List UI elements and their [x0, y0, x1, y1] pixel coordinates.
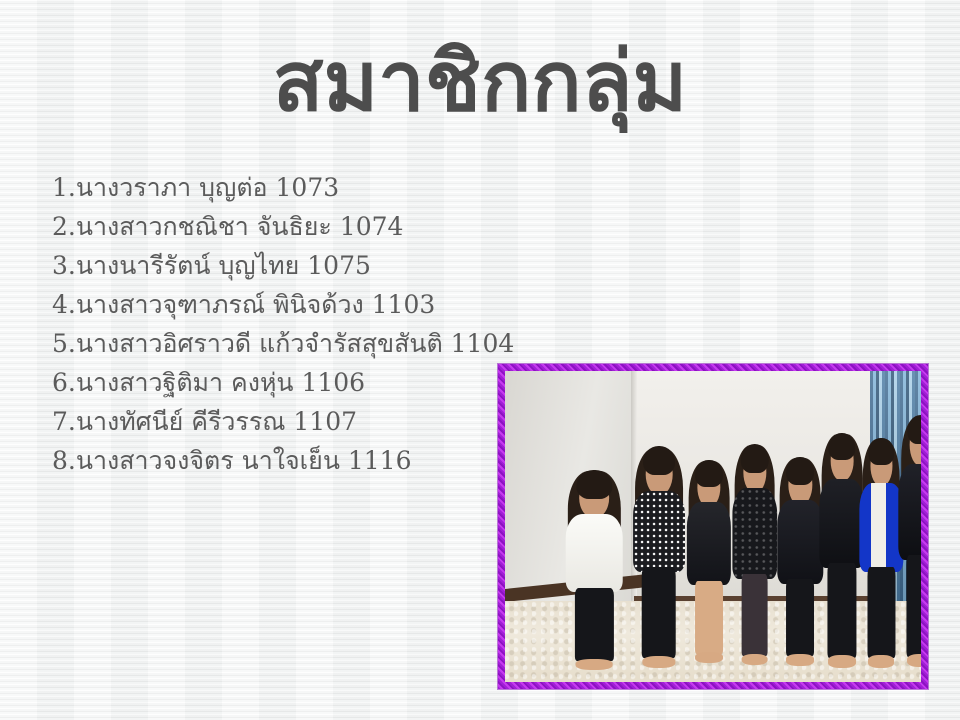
photo-person: [559, 449, 630, 673]
page-title: สมาชิกกลุ่ม: [0, 38, 960, 125]
list-item: 1.นางวราภา บุญต่อ 1073: [52, 168, 514, 207]
list-item: 4.นางสาวจุฑาภรณ์ พินิจด้วง 1103: [52, 285, 514, 324]
member-line: 7.นางทัศนีย์ คีรีวรรณ 1107: [52, 407, 357, 436]
member-list: 1.นางวราภา บุญต่อ 1073 2.นางสาวกชณิชา จั…: [52, 168, 514, 480]
member-line: 5.นางสาวอิศราวดี แก้วจำรัสสุขสันติ 1104: [52, 329, 514, 358]
list-item: 5.นางสาวอิศราวดี แก้วจำรัสสุขสันติ 1104: [52, 324, 514, 363]
list-item: 7.นางทัศนีย์ คีรีวรรณ 1107: [52, 402, 514, 441]
member-line: 8.นางสาวจงจิตร นาใจเย็น 1116: [52, 446, 411, 475]
list-item: 6.นางสาวฐิติมา คงหุ่น 1106: [52, 363, 514, 402]
group-photo-frame: [498, 364, 928, 689]
list-item: 2.นางสาวกชณิชา จันธิยะ 1074: [52, 207, 514, 246]
group-photo: [505, 371, 921, 682]
member-line: 6.นางสาวฐิติมา คงหุ่น 1106: [52, 368, 365, 397]
member-line: 2.นางสาวกชณิชา จันธิยะ 1074: [52, 212, 403, 241]
member-line: 4.นางสาวจุฑาภรณ์ พินิจด้วง 1103: [52, 290, 435, 319]
member-line: 1.นางวราภา บุญต่อ 1073: [52, 173, 339, 202]
list-item: 8.นางสาวจงจิตร นาใจเย็น 1116: [52, 441, 514, 480]
presentation-slide: สมาชิกกลุ่ม 1.นางวราภา บุญต่อ 1073 2.นาง…: [0, 0, 960, 720]
list-item: 3.นางนารีรัตน์ บุญไทย 1075: [52, 246, 514, 285]
photo-person: [892, 411, 921, 672]
member-line: 3.นางนารีรัตน์ บุญไทย 1075: [52, 251, 371, 280]
